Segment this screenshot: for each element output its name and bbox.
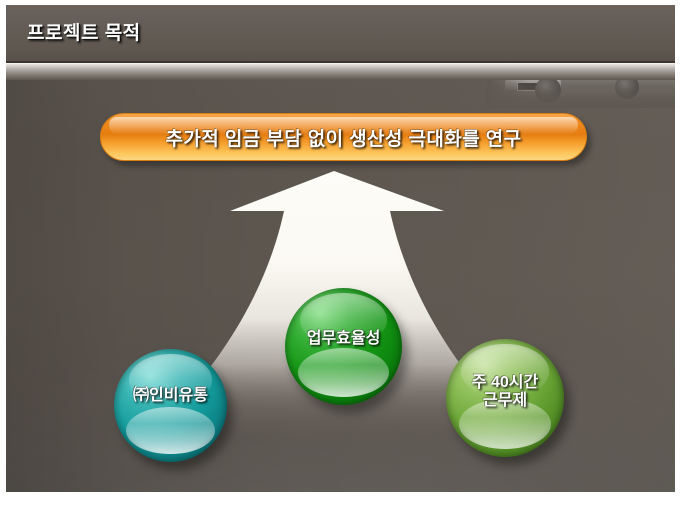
orb-efficiency-label-line1: 업무효율성: [307, 330, 381, 348]
slide-canvas: 프로젝트 목적 추가적 임금 부담 없이 생산성 극대화를 연구: [6, 5, 675, 492]
orb-company-label-line1: ㈜인비유통: [133, 387, 208, 405]
orb-company[interactable]: ㈜인비유통: [114, 349, 227, 462]
banner-text: 추가적 임금 부담 없이 생산성 극대화를 연구: [100, 113, 587, 161]
orb-worktime-label-line2: 근무제: [483, 392, 527, 410]
orb-company-label: ㈜인비유통: [114, 339, 227, 452]
orb-efficiency-label: 업무효율성: [285, 280, 402, 397]
page-title: 프로젝트 목적: [27, 18, 141, 45]
header-highlight-strip: [6, 63, 675, 80]
orb-efficiency[interactable]: 업무효율성: [285, 288, 402, 405]
orb-worktime[interactable]: 주 40시간 근무제: [446, 339, 564, 457]
goal-banner: 추가적 임금 부담 없이 생산성 극대화를 연구: [100, 113, 587, 161]
orb-worktime-label: 주 40시간 근무제: [446, 333, 564, 451]
orb-worktime-label-line1: 주 40시간: [472, 374, 538, 392]
